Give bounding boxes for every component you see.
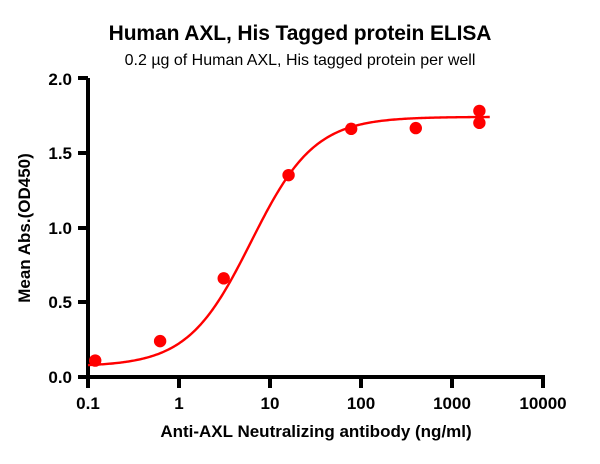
x-axis-title: Anti-AXL Neutralizing antibody (ng/ml) [160, 422, 471, 441]
data-point [473, 105, 485, 117]
plot-area: 0.0 0.5 1.0 1.5 2.0 0.1 1 10 100 1000 10… [0, 0, 600, 464]
data-point [410, 122, 422, 134]
x-axis-tick-labels: 0.1 1 10 100 1000 10000 [76, 394, 566, 413]
y-tick-label-3: 1.5 [48, 144, 72, 163]
x-tick-label-1: 1 [174, 394, 183, 413]
data-point [345, 123, 357, 135]
x-tick-label-5: 10000 [519, 394, 566, 413]
y-tick-label-4: 2.0 [48, 70, 72, 89]
data-point [218, 272, 230, 284]
y-axis-title: Mean Abs.(OD450) [15, 153, 34, 303]
data-point [89, 354, 101, 366]
x-tick-label-2: 10 [261, 394, 280, 413]
x-tick-label-3: 100 [347, 394, 375, 413]
fit-curve [88, 117, 490, 365]
elisa-chart-figure: Human AXL, His Tagged protein ELISA 0.2 … [0, 0, 600, 464]
data-point-group [89, 105, 486, 367]
y-tick-label-1: 0.5 [48, 293, 72, 312]
y-tick-label-0: 0.0 [48, 368, 72, 387]
data-point [154, 335, 166, 347]
data-point [473, 117, 485, 129]
data-point [282, 169, 294, 181]
y-tick-label-2: 1.0 [48, 219, 72, 238]
x-tick-label-4: 1000 [433, 394, 471, 413]
x-tick-label-0: 0.1 [76, 394, 100, 413]
y-axis-tick-labels: 0.0 0.5 1.0 1.5 2.0 [48, 70, 72, 387]
